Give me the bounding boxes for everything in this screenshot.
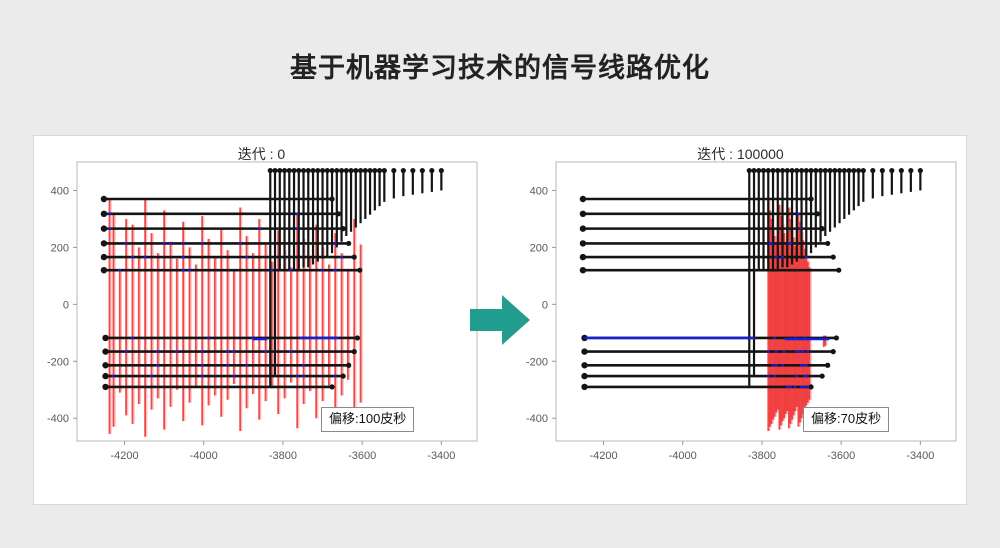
svg-text:-3400: -3400	[427, 450, 455, 462]
figure-card: 迭代 : 0 4002000-200-400-4200-4000-3800-36…	[33, 135, 967, 505]
svg-text:-400: -400	[47, 413, 69, 425]
svg-text:-3400: -3400	[906, 450, 934, 462]
chart-panel-right: 迭代 : 100000 4002000-200-400-4200-4000-38…	[513, 136, 968, 506]
svg-text:200: 200	[530, 242, 548, 254]
svg-text:-4000: -4000	[190, 450, 218, 462]
svg-text:-200: -200	[526, 356, 548, 368]
svg-text:0: 0	[63, 299, 69, 311]
plot-area-right: 4002000-200-400-4200-4000-3800-3600-3400	[513, 158, 968, 506]
arrow-container	[489, 136, 513, 506]
svg-text:-3800: -3800	[748, 450, 776, 462]
svg-text:400: 400	[51, 185, 69, 197]
annotation-offset-right: 偏移:70皮秒	[803, 407, 889, 432]
svg-text:-200: -200	[47, 356, 69, 368]
svg-text:0: 0	[542, 299, 548, 311]
svg-text:-4200: -4200	[110, 450, 138, 462]
svg-text:-3800: -3800	[269, 450, 297, 462]
svg-text:400: 400	[530, 185, 548, 197]
annotation-offset-left: 偏移:100皮秒	[321, 407, 414, 432]
svg-text:-400: -400	[526, 413, 548, 425]
svg-text:200: 200	[51, 242, 69, 254]
chart-panel-left: 迭代 : 0 4002000-200-400-4200-4000-3800-36…	[34, 136, 489, 506]
page-title: 基于机器学习技术的信号线路优化	[0, 48, 1000, 88]
svg-text:-3600: -3600	[827, 450, 855, 462]
svg-text:-3600: -3600	[348, 450, 376, 462]
svg-text:-4000: -4000	[669, 450, 697, 462]
plot-area-left: 4002000-200-400-4200-4000-3800-3600-3400	[34, 158, 489, 506]
svg-text:-4200: -4200	[589, 450, 617, 462]
